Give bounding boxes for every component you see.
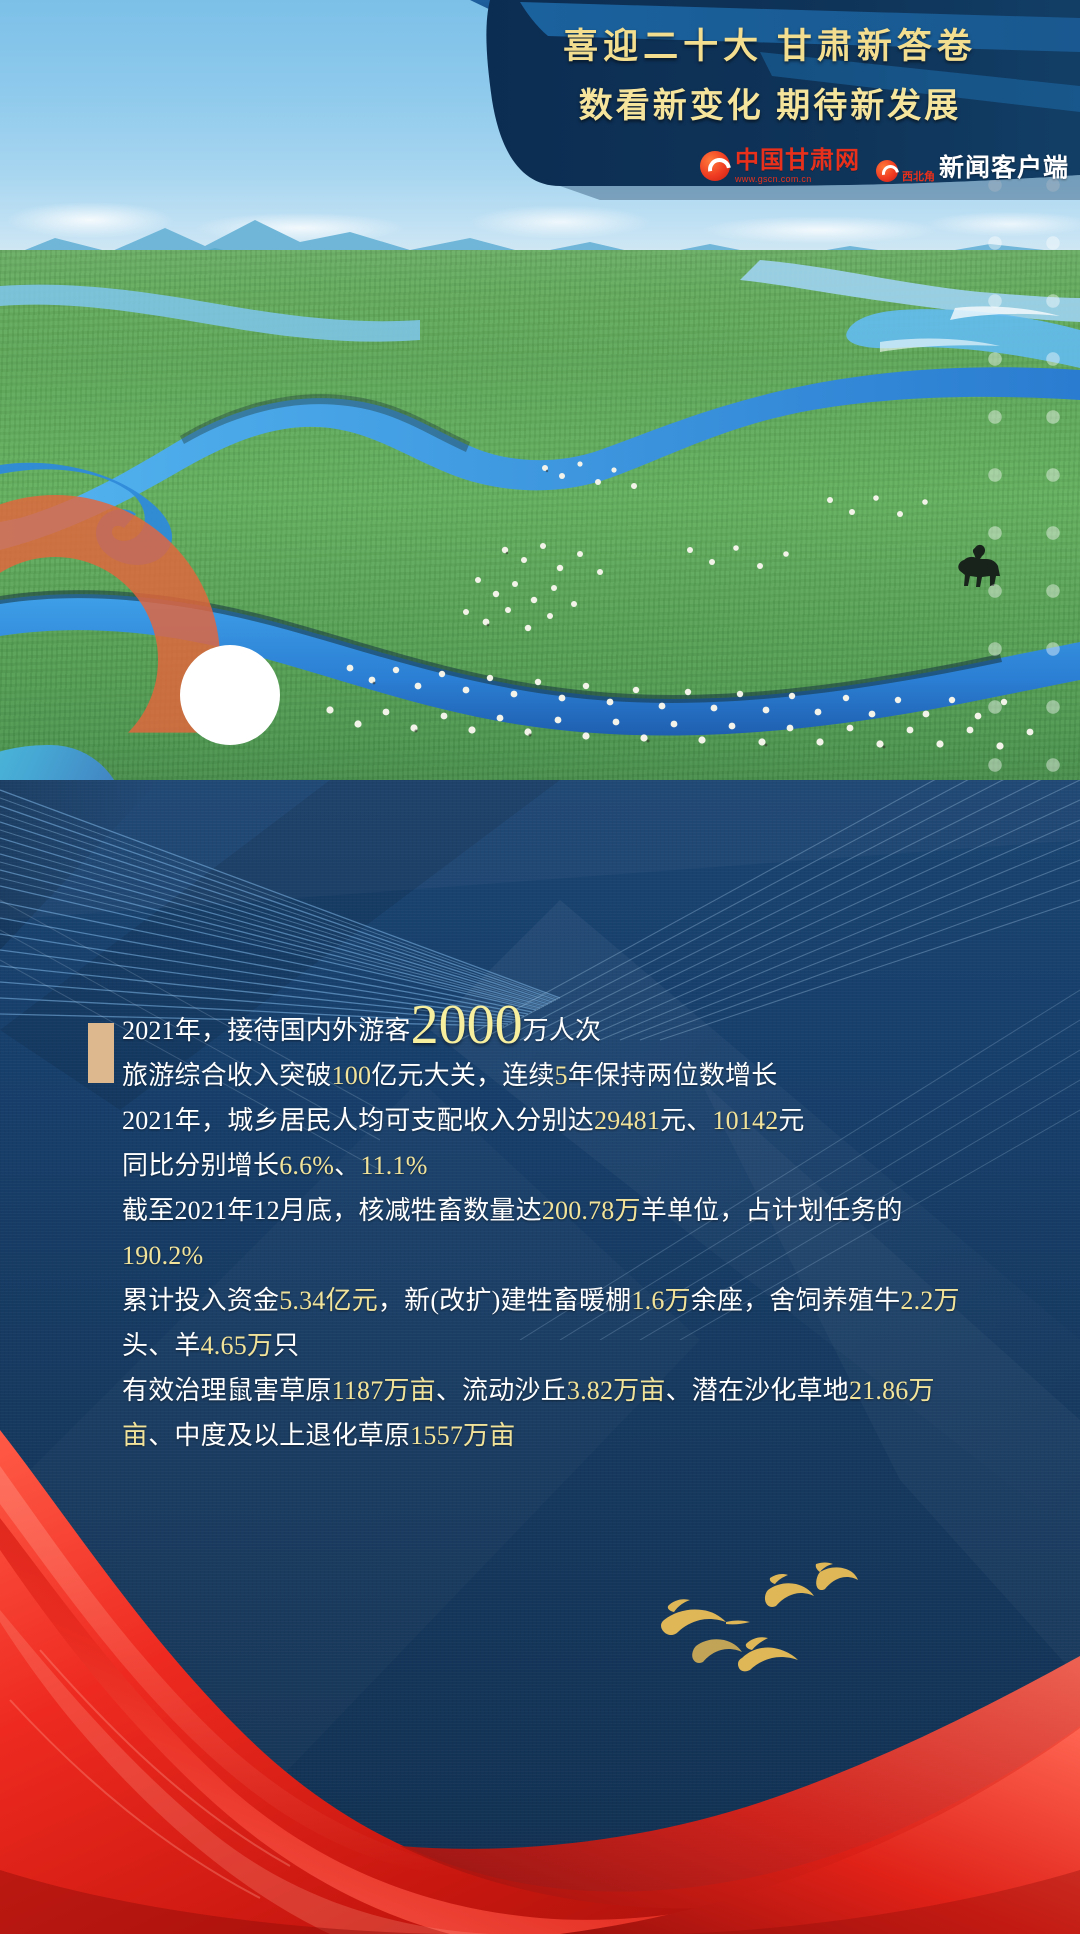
dot-grid-pattern bbox=[960, 150, 1080, 800]
stat-segment: ，新(改扩)建牲畜暖棚 bbox=[378, 1286, 632, 1315]
stat-segment: 5 bbox=[555, 1061, 568, 1090]
stat-segment: 亿元 bbox=[326, 1286, 378, 1315]
stat-segment: 190.2% bbox=[122, 1241, 203, 1270]
stat-segment: 4.65万 bbox=[201, 1331, 274, 1360]
stat-segment: 亿元大关，连续 bbox=[371, 1061, 554, 1090]
stat-segment: 万 bbox=[615, 1196, 641, 1225]
logo-news-client[interactable]: 西北角 新闻客户端 bbox=[876, 148, 1069, 184]
stat-segment: 羊单位，占计划任务的 bbox=[641, 1196, 903, 1225]
stat-segment: 万人次 bbox=[523, 1016, 602, 1045]
gansu-net-swirl-icon bbox=[700, 151, 730, 181]
stat-line-income-growth: 同比分别增长6.6%、11.1% bbox=[122, 1143, 962, 1188]
logo-news-client-sub: 西北角 bbox=[902, 168, 935, 184]
stat-segment: 5.34 bbox=[279, 1286, 325, 1315]
stat-segment: 200.78 bbox=[542, 1196, 615, 1225]
header-title-line2: 数看新变化 期待新发展 bbox=[470, 78, 1070, 127]
stat-segment: 1.6万 bbox=[631, 1286, 690, 1315]
stat-segment: 2.2万 bbox=[900, 1286, 959, 1315]
stat-segment: 、 bbox=[334, 1151, 360, 1180]
poster-root: 喜迎二十大 甘肃新答卷 数看新变化 期待新发展 中国甘肃网 www.gscn.c… bbox=[0, 0, 1080, 1934]
stats-text-block: 2021年，接待国内外游客2000万人次 旅游综合收入突破100亿元大关，连续5… bbox=[122, 1008, 962, 1458]
stat-segment: 2021年，接待国内外游客 bbox=[122, 1016, 411, 1045]
stat-segment: 截至2021年12月底，核减牲畜数量达 bbox=[122, 1196, 542, 1225]
stat-segment: 2021年，城乡居民人均可支配收入分别达 bbox=[122, 1106, 594, 1135]
stat-segment: 11.1% bbox=[360, 1151, 427, 1180]
stats-bullet-marker bbox=[88, 1023, 114, 1083]
logo-gansu-net-url: www.gscn.com.cn bbox=[735, 175, 860, 184]
logo-row: 中国甘肃网 www.gscn.com.cn 西北角 新闻客户端 bbox=[700, 148, 1069, 184]
stat-segment: 2000 bbox=[411, 994, 523, 1056]
stat-segment: 29481 bbox=[594, 1106, 660, 1135]
stat-segment: 只 bbox=[273, 1331, 299, 1360]
stat-segment: 100 bbox=[332, 1061, 372, 1090]
stat-segment: 累计投入资金 bbox=[122, 1286, 279, 1315]
stat-line-livestock-reduction: 截至2021年12月底，核减牲畜数量达200.78万羊单位，占计划任务的190.… bbox=[122, 1188, 962, 1278]
stat-segment: 元、 bbox=[660, 1106, 712, 1135]
stat-segment: 年保持两位数增长 bbox=[568, 1061, 778, 1090]
stat-segment: 6.6% bbox=[279, 1151, 334, 1180]
stat-segment: 10142 bbox=[712, 1106, 778, 1135]
header-title-line1: 喜迎二十大 甘肃新答卷 bbox=[470, 18, 1070, 69]
stat-segment: 旅游综合收入突破 bbox=[122, 1061, 332, 1090]
stat-segment: 同比分别增长 bbox=[122, 1151, 279, 1180]
stat-line-tourism-revenue: 旅游综合收入突破100亿元大关，连续5年保持两位数增长 bbox=[122, 1053, 962, 1098]
stat-line-tourists: 2021年，接待国内外游客2000万人次 bbox=[122, 1008, 962, 1053]
news-client-swirl-icon bbox=[876, 160, 898, 182]
stat-line-disposable-income: 2021年，城乡居民人均可支配收入分别达29481元、10142元 bbox=[122, 1098, 962, 1143]
stat-line-investment-sheds: 累计投入资金5.34亿元，新(改扩)建牲畜暖棚1.6万余座，舍饲养殖牛2.2万头… bbox=[122, 1278, 962, 1368]
logo-news-client-label: 新闻客户端 bbox=[939, 148, 1069, 184]
stat-segment: 余座，舍饲养殖牛 bbox=[691, 1286, 901, 1315]
header-title-block: 喜迎二十大 甘肃新答卷 数看新变化 期待新发展 bbox=[470, 18, 1070, 127]
stat-segment: 元 bbox=[778, 1106, 804, 1135]
stat-segment: 头、羊 bbox=[122, 1331, 201, 1360]
flying-birds-icon bbox=[650, 1562, 860, 1692]
white-circle-decoration bbox=[180, 645, 280, 745]
logo-gansu-net[interactable]: 中国甘肃网 www.gscn.com.cn bbox=[700, 149, 860, 184]
logo-gansu-net-label: 中国甘肃网 bbox=[735, 149, 860, 173]
